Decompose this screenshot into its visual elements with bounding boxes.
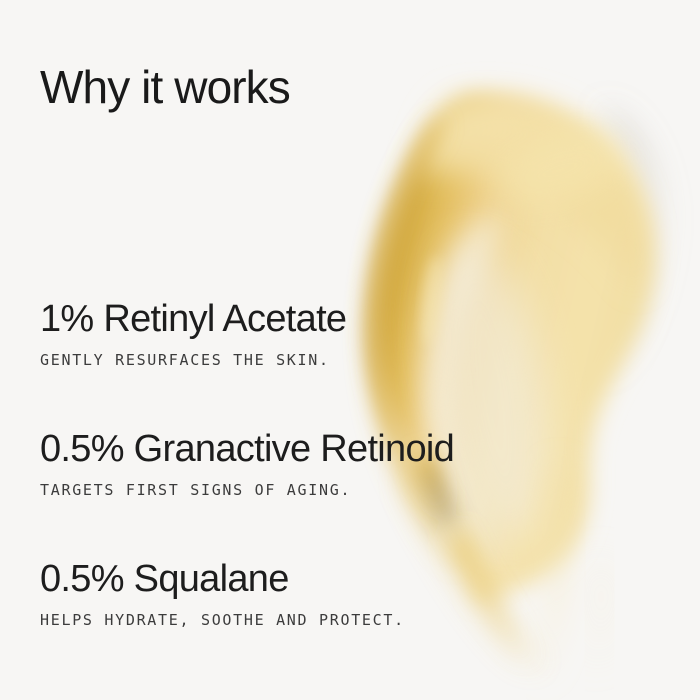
ingredient-name: 1% Retinyl Acetate: [40, 298, 680, 341]
product-benefits-card: Why it works 1% Retinyl Acetate GENTLY R…: [0, 0, 700, 700]
page-title: Why it works: [40, 62, 290, 113]
ingredient-description: GENTLY RESURFACES THE SKIN.: [40, 351, 680, 369]
ingredient-item: 0.5% Granactive Retinoid TARGETS FIRST S…: [40, 428, 680, 499]
copy-content: Why it works 1% Retinyl Acetate GENTLY R…: [0, 0, 700, 700]
ingredient-name: 0.5% Granactive Retinoid: [40, 428, 680, 471]
ingredient-description: HELPS HYDRATE, SOOTHE AND PROTECT.: [40, 611, 680, 629]
ingredient-item: 0.5% Squalane HELPS HYDRATE, SOOTHE AND …: [40, 558, 680, 629]
ingredient-item: 1% Retinyl Acetate GENTLY RESURFACES THE…: [40, 298, 680, 369]
ingredient-description: TARGETS FIRST SIGNS OF AGING.: [40, 481, 680, 499]
ingredient-name: 0.5% Squalane: [40, 558, 680, 601]
